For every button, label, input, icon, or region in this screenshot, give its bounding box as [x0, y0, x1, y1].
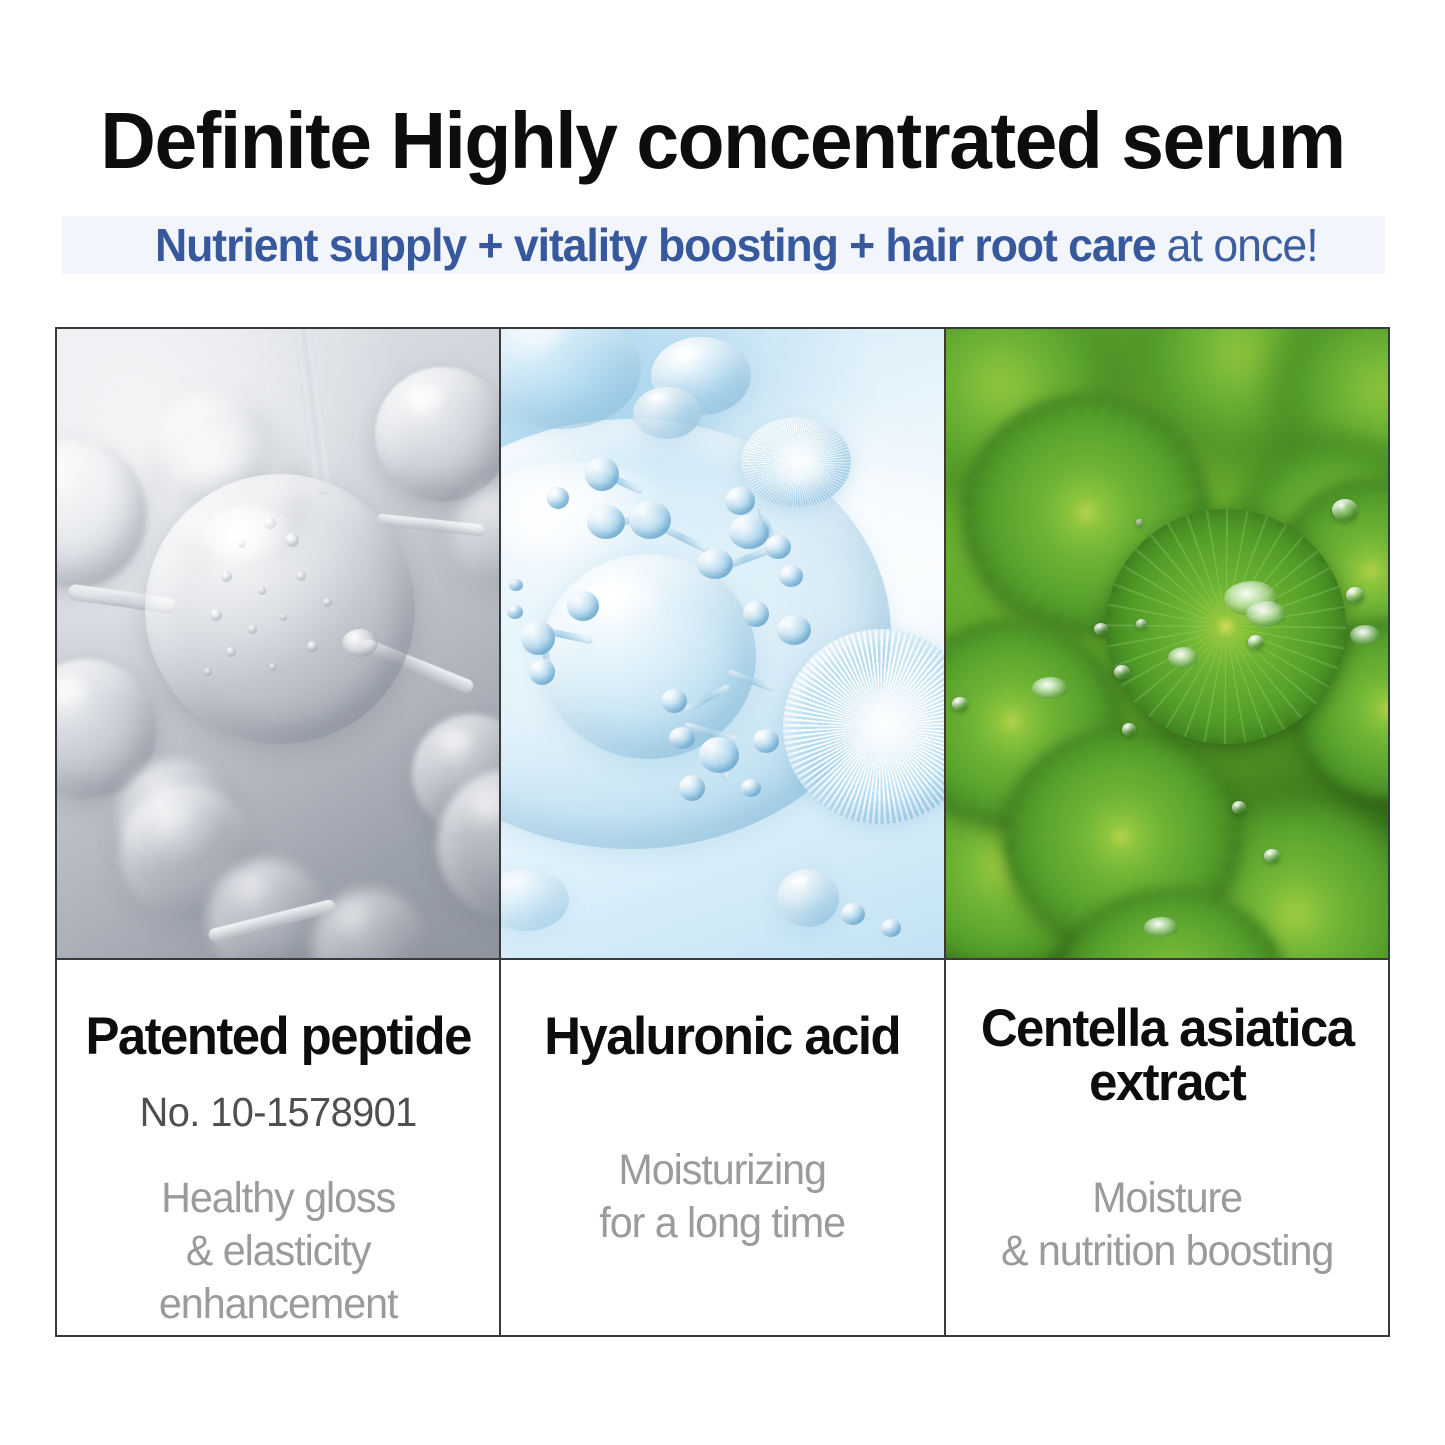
subtitle-strong-text: Nutrient supply + vitality boosting + ha… [155, 219, 1156, 271]
ingredient-description: Healthy gloss & elasticity enhancement [75, 1172, 480, 1331]
desc-line-1: Healthy gloss [75, 1172, 480, 1225]
ingredient-title: Patented peptide [75, 1008, 480, 1066]
subtitle-light-text: at once! [1155, 219, 1318, 271]
desc-line-1: Moisturizing [520, 1144, 925, 1197]
desc-line-2: & nutrition boosting [964, 1225, 1369, 1278]
ingredient-card-centella-asiatica: Centella asiatica extract Moisture & nut… [946, 329, 1388, 1335]
ingredient-card-patented-peptide: Patented peptide No. 10-1578901 Healthy … [57, 329, 501, 1335]
card-body-1: Patented peptide No. 10-1578901 Healthy … [57, 960, 499, 1335]
ingredient-card-hyaluronic-acid: Hyaluronic acid Moisturizing for a long … [501, 329, 945, 1335]
molecule-spheres-artwork [57, 329, 499, 958]
molecule-spheres-photo [57, 329, 499, 960]
centella-leaves-artwork [946, 329, 1388, 958]
patent-number: No. 10-1578901 [73, 1088, 483, 1136]
card-body-2: Hyaluronic acid Moisturizing for a long … [501, 960, 943, 1335]
card-body-3: Centella asiatica extract Moisture & nut… [946, 960, 1388, 1335]
ingredient-description: Moisturizing for a long time [520, 1144, 925, 1250]
page-title: Definite Highly concentrated serum [29, 96, 1416, 186]
product-infographic: Definite Highly concentrated serum Nutri… [0, 0, 1445, 1445]
ingredient-description: Moisture & nutrition boosting [964, 1172, 1369, 1278]
water-bubbles-artwork [501, 329, 943, 958]
water-bubbles-photo [501, 329, 943, 960]
ingredient-title: Centella asiatica extract [964, 1002, 1369, 1110]
ingredient-title-line-2: extract [964, 1056, 1369, 1110]
ingredient-title-line-1: Centella asiatica [964, 1002, 1369, 1056]
desc-line-1: Moisture [964, 1172, 1369, 1225]
desc-line-2: & elasticity enhancement [75, 1225, 480, 1331]
desc-line-2: for a long time [520, 1197, 925, 1250]
ingredient-title: Hyaluronic acid [520, 1008, 925, 1066]
ingredient-grid: Patented peptide No. 10-1578901 Healthy … [55, 327, 1390, 1337]
subtitle-banner: Nutrient supply + vitality boosting + ha… [62, 216, 1385, 274]
centella-leaves-photo [946, 329, 1388, 960]
